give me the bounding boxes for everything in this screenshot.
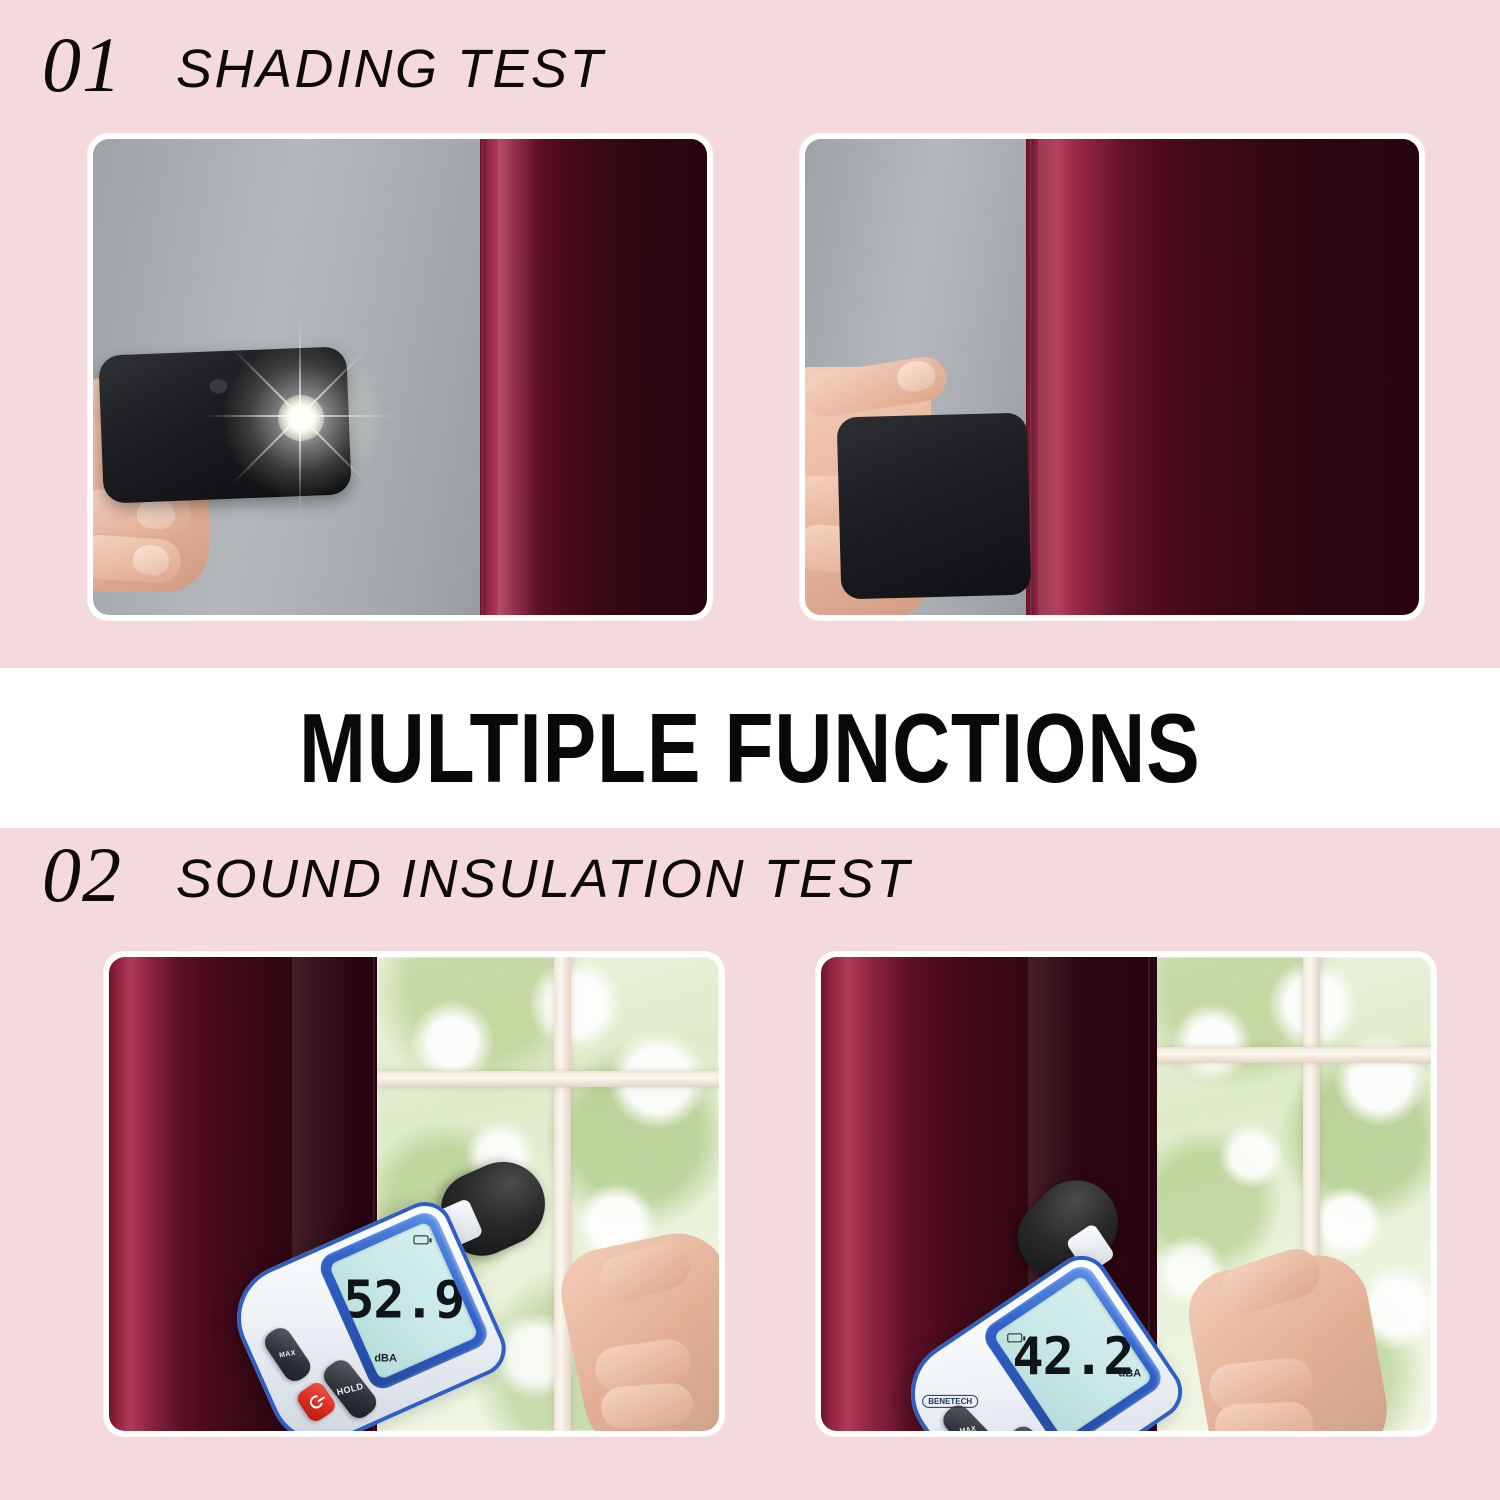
curtain-seam [482, 139, 485, 615]
section-number-01: 01 [42, 28, 122, 102]
window-mullion-horizontal [377, 1071, 719, 1087]
photo-flashlight-behind-curtain [805, 139, 1419, 615]
section-heading-01: 01 SHADING TEST [42, 28, 605, 102]
section-number-02: 02 [42, 838, 122, 912]
maxmin-button-label: MAX [259, 1346, 315, 1363]
maxmin-button[interactable]: MAX [260, 1323, 315, 1385]
lcd-screen: 52.9 dBA [329, 1221, 479, 1380]
smartphone [837, 413, 1032, 600]
finger [600, 1382, 695, 1430]
curtain-panel [1026, 139, 1419, 615]
photo-card-meter-at-curtain: 42.2 dBA HOLD MAX BENETECH [816, 952, 1436, 1436]
brand-logo: BENETECH [922, 1395, 978, 1408]
battery-icon [414, 1235, 429, 1244]
multiple-functions-banner: MULTIPLE FUNCTIONS [0, 668, 1500, 828]
photo-meter-at-window: 52.9 dBA HOLD MAX [109, 957, 719, 1431]
photo-flashlight-on-wall [93, 139, 707, 615]
window-mullion-vertical [554, 957, 571, 1431]
section-title-02: SOUND INSULATION TEST [176, 852, 912, 906]
infographic-page: 01 SHADING TEST [0, 0, 1500, 1500]
section-title-01: SHADING TEST [176, 42, 605, 96]
curtain-panel [480, 139, 707, 615]
power-icon [307, 1393, 325, 1411]
banner-title: MULTIPLE FUNCTIONS [299, 699, 1201, 797]
curtain-seam [1030, 139, 1033, 615]
lcd-reading: 42.2 [1012, 1331, 1133, 1383]
phone-camera-icon [209, 379, 228, 394]
section-heading-02: 02 SOUND INSULATION TEST [42, 838, 912, 912]
battery-icon [1007, 1333, 1022, 1342]
photo-card-meter-at-window: 52.9 dBA HOLD MAX [104, 952, 724, 1436]
photo-card-flashlight-on-wall [88, 134, 712, 620]
photo-meter-at-curtain: 42.2 dBA HOLD MAX BENETECH [821, 957, 1431, 1431]
finger [1214, 1401, 1313, 1431]
lcd-unit-label: dBA [1119, 1368, 1142, 1380]
window-mullion-horizontal [1150, 1047, 1431, 1063]
maxmin-button-label: MAX [940, 1422, 996, 1431]
flashlight-led [278, 395, 324, 441]
photo-card-flashlight-behind-curtain [800, 134, 1424, 620]
lcd-reading: 52.9 [343, 1275, 464, 1327]
lcd-unit-label: dBA [374, 1353, 397, 1365]
